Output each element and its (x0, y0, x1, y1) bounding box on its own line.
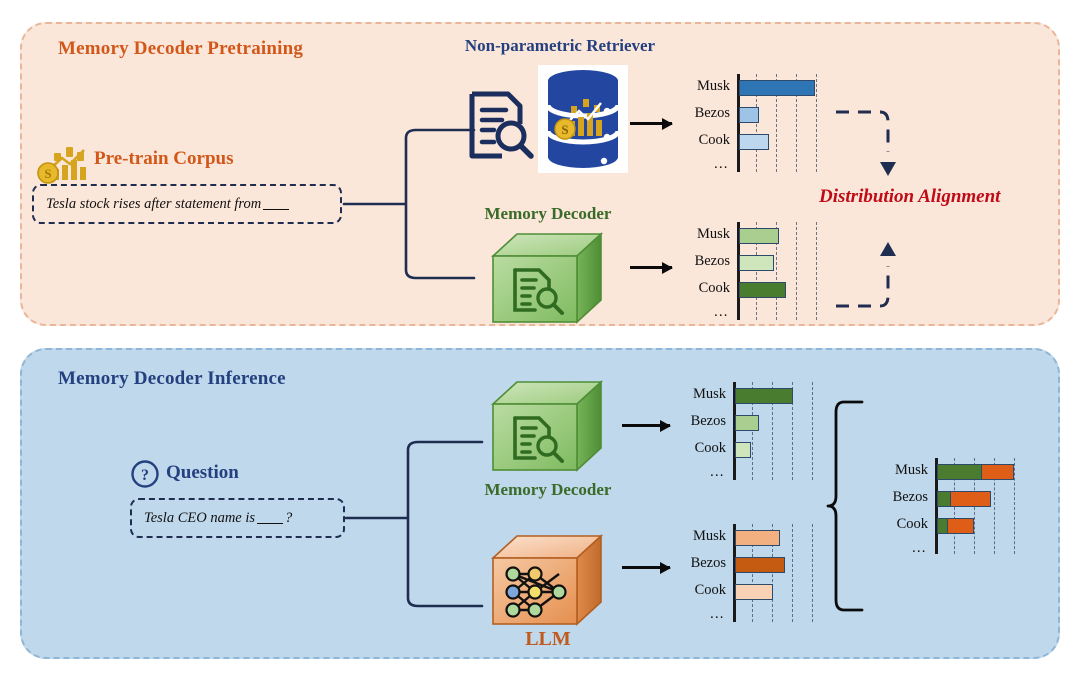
chart-category-ellipsis: … (626, 464, 726, 481)
chart-category-ellipsis: … (828, 540, 928, 557)
chart-category-label: Cook (626, 582, 726, 599)
chart-category-label: Musk (630, 78, 730, 95)
chart-row (935, 518, 1035, 534)
bar-bezos (739, 255, 774, 271)
pretrain-corpus-text: Tesla stock rises after statement from (46, 196, 261, 212)
inference-fork-connector (346, 432, 496, 632)
chart-category-label: Cook (630, 280, 730, 297)
bar-bezos-llm (951, 491, 991, 507)
bar-cook-memory-decoder (937, 518, 948, 534)
question-text: Tesla CEO name is (144, 510, 255, 526)
green-cube-document-search-icon (489, 230, 607, 328)
document-search-icon (463, 88, 535, 168)
chart-retriever-distribution (737, 74, 829, 172)
bar-musk (735, 388, 793, 404)
chart-category-ellipsis: … (626, 606, 726, 623)
llm-label: LLM (488, 628, 608, 651)
chart-combined-distribution (935, 458, 1035, 554)
chart-row (935, 491, 1035, 507)
bar-cook (739, 134, 769, 150)
bar-bezos-memory-decoder (937, 491, 951, 507)
bar-musk (739, 80, 815, 96)
pretraining-panel-title: Memory Decoder Pretraining (58, 38, 303, 60)
chart-row (733, 584, 825, 600)
blank-underscore (263, 209, 289, 210)
green-cube-document-search-icon (489, 378, 607, 476)
chart-category-label: Bezos (626, 413, 726, 430)
bar-musk-memory-decoder (937, 464, 982, 480)
bar-cook (735, 584, 773, 600)
svg-text:?: ? (141, 467, 149, 484)
bar-musk (739, 228, 779, 244)
svg-text:S: S (44, 166, 51, 181)
chart-row (737, 255, 829, 271)
chart-category-label: Bezos (630, 105, 730, 122)
pretrain-corpus-label: Pre-train Corpus (94, 148, 234, 170)
chart-category-label: Cook (828, 516, 928, 533)
database-icon: S (538, 65, 628, 173)
retriever-to-chart-arrow (630, 122, 672, 125)
bar-bezos (739, 107, 759, 123)
orange-cube-neural-net-icon (489, 532, 607, 630)
chart-row (737, 282, 829, 298)
question-label: Question (166, 462, 239, 484)
chart-category-label: Bezos (630, 253, 730, 270)
chart-category-label: Musk (626, 528, 726, 545)
chart-category-label: Musk (630, 226, 730, 243)
svg-text:S: S (561, 122, 568, 137)
chart-category-label: Bezos (626, 555, 726, 572)
bar-cook (735, 442, 751, 458)
retriever-title: Non-parametric Retriever (430, 36, 690, 56)
merge-brace (828, 400, 868, 612)
bar-bezos (735, 557, 785, 573)
bar-cook-llm (948, 518, 974, 534)
chart-row (733, 388, 825, 404)
bar-chart-dollar-icon: S (36, 143, 90, 187)
inference-memory-decoder-label: Memory Decoder (448, 480, 648, 500)
chart-row (737, 80, 829, 96)
chart-row (935, 464, 1035, 480)
chart-row (737, 107, 829, 123)
inference-panel-title: Memory Decoder Inference (58, 368, 286, 390)
chart-row (737, 228, 829, 244)
chart-row (733, 557, 825, 573)
chart-category-ellipsis: … (630, 304, 730, 321)
chart-row (737, 134, 829, 150)
distribution-alignment-label: Distribution Alignment (819, 186, 1000, 208)
distribution-alignment-connector (836, 104, 956, 314)
pretrain-corpus-textbox: Tesla stock rises after statement from (32, 184, 342, 224)
chart-row (733, 530, 825, 546)
pretrain-memory-decoder-title: Memory Decoder (448, 204, 648, 224)
chart-category-label: Musk (626, 386, 726, 403)
bar-musk-llm (982, 464, 1014, 480)
chart-memory-decoder-pretrain-distribution (737, 222, 829, 320)
question-mark-text: ? (285, 510, 292, 526)
bar-cook (739, 282, 786, 298)
chart-row (733, 442, 825, 458)
chart-llm-distribution (733, 524, 825, 622)
bar-bezos (735, 415, 759, 431)
question-mark-circle-icon: ? (130, 459, 160, 489)
chart-category-ellipsis: … (630, 156, 730, 173)
chart-category-label: Cook (630, 132, 730, 149)
bar-musk (735, 530, 780, 546)
chart-category-label: Cook (626, 440, 726, 457)
question-textbox: Tesla CEO name is? (130, 498, 345, 538)
chart-memory-decoder-inference-distribution (733, 382, 825, 480)
chart-category-label: Musk (828, 462, 928, 479)
chart-category-label: Bezos (828, 489, 928, 506)
chart-row (733, 415, 825, 431)
blank-underscore (257, 523, 283, 524)
